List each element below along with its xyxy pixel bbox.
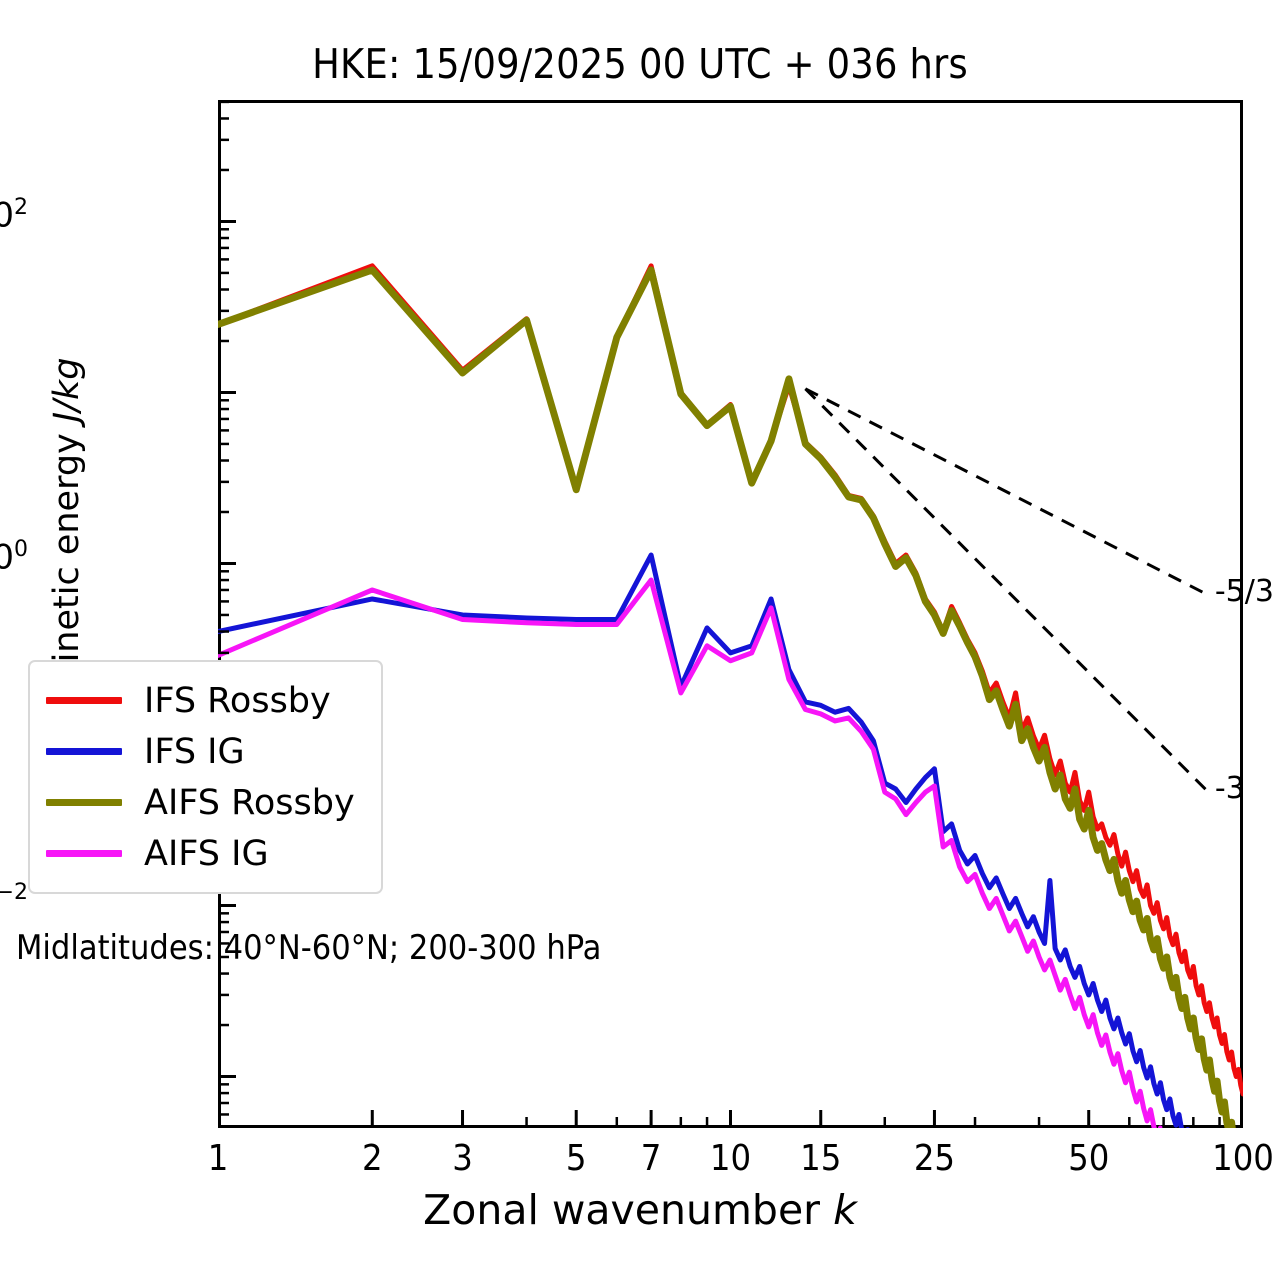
legend-label: IFS Rossby [144, 681, 331, 721]
legend-swatch-aifs-rossby [46, 799, 122, 806]
x-tick-label: 25 [874, 1138, 994, 1179]
x-tick-label: 1 [158, 1138, 278, 1179]
legend-swatch-aifs-ig [46, 850, 122, 857]
figure: HKE: 15/09/2025 00 UTC + 036 hrs Horizon… [0, 0, 1280, 1288]
chart-title: HKE: 15/09/2025 00 UTC + 036 hrs [0, 40, 1280, 88]
y-tick-label: 100 [0, 537, 28, 577]
slope-label: -5/3 [1215, 574, 1274, 609]
region-annotation: Midlatitudes: 40°N-60°N; 200-300 hPa [16, 928, 601, 968]
legend-item[interactable]: AIFS Rossby [46, 777, 355, 828]
legend-item[interactable]: IFS Rossby [46, 675, 355, 726]
slope-reference-line [805, 389, 1206, 594]
legend-label: AIFS Rossby [144, 783, 355, 823]
y-tick-label: 102 [0, 195, 28, 235]
legend-label: AIFS IG [144, 834, 269, 874]
legend-label: IFS IG [144, 732, 245, 772]
legend-item[interactable]: IFS IG [46, 726, 355, 777]
legend-item[interactable]: AIFS IG [46, 828, 355, 879]
x-tick-label: 3 [403, 1138, 523, 1179]
legend-swatch-ifs-rossby [46, 697, 122, 704]
legend-swatch-ifs-ig [46, 748, 122, 755]
x-tick-label: 15 [761, 1138, 881, 1179]
plot-area [218, 100, 1243, 1128]
y-tick-label: 10−2 [0, 880, 28, 920]
x-tick-label: 50 [1029, 1138, 1149, 1179]
x-axis-label: Zonal wavenumber k [0, 1186, 1280, 1234]
series-canvas [218, 100, 1243, 1128]
slope-label: -3 [1215, 771, 1245, 806]
x-tick-label: 100 [1183, 1138, 1280, 1179]
legend: IFS Rossby IFS IG AIFS Rossby AIFS IG [28, 660, 383, 894]
